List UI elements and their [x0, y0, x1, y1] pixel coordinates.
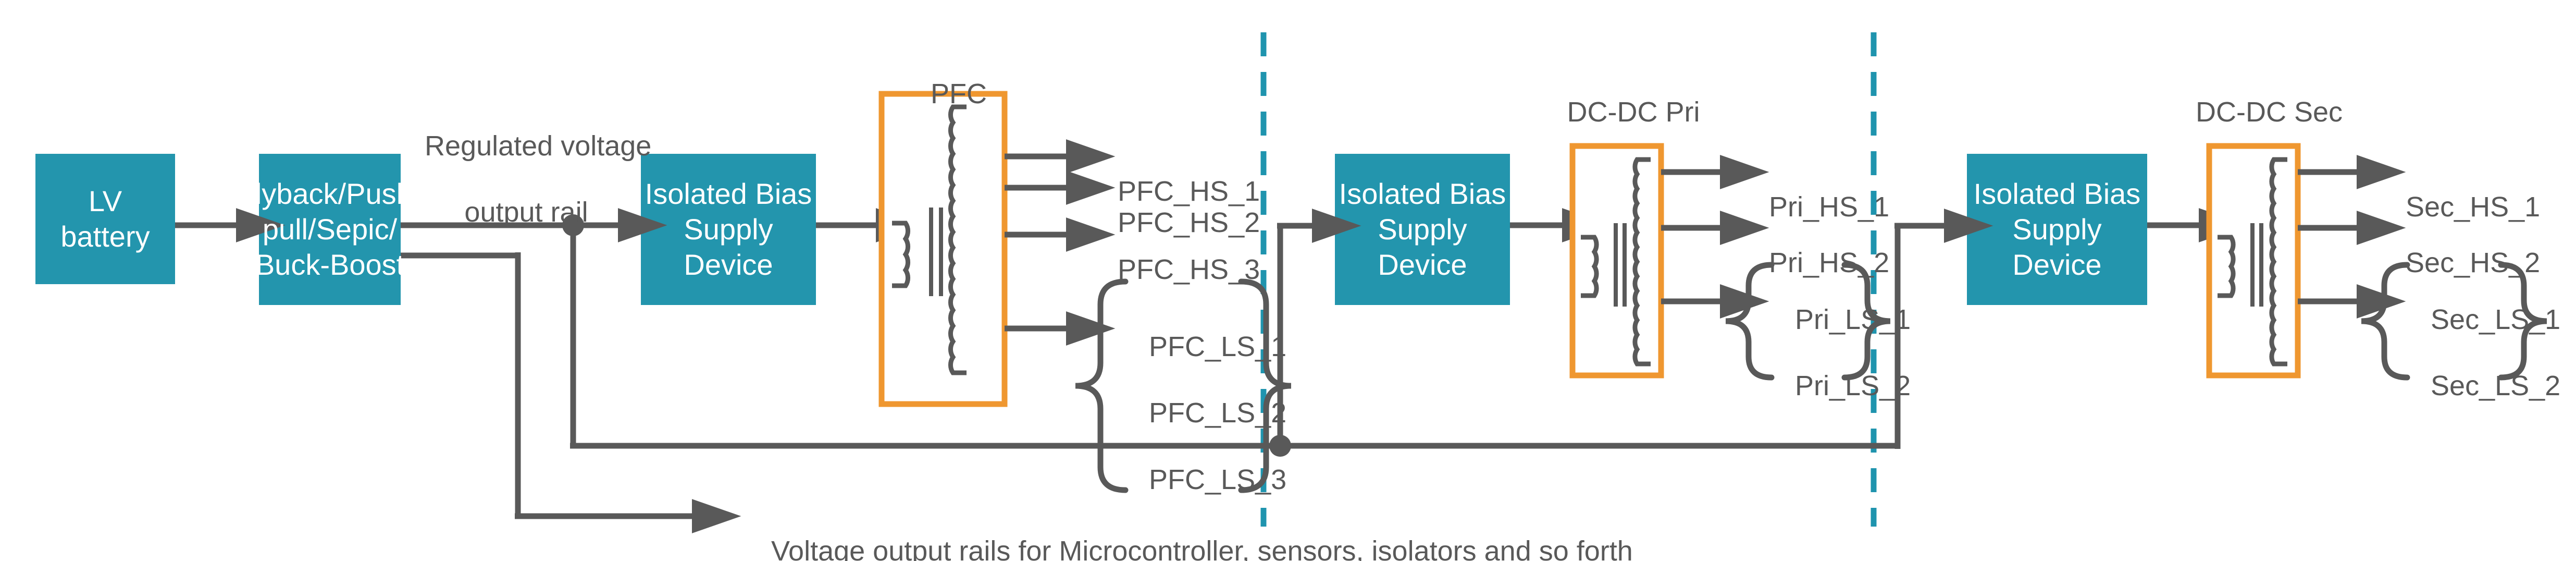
transformer-dcdc-pri-caption: DC-DC Pri	[1527, 63, 1709, 162]
pfc-ls-1-text: PFC_LS_1	[1149, 331, 1286, 362]
block-bias-supply-1[interactable]	[641, 154, 816, 305]
aux-rail-text: Voltage output rails for Microcontroller…	[771, 535, 1633, 561]
transformer-dcdc-sec-caption: DC-DC Sec	[2162, 63, 2345, 162]
block-bias-supply-2[interactable]	[1335, 154, 1510, 305]
pfc-hs-3-text: PFC_HS_3	[1118, 254, 1260, 285]
pri-ls-1-text: Pri_LS_1	[1795, 304, 1911, 335]
pfc-ls-3-text: PFC_LS_3	[1149, 464, 1286, 495]
block-bias-supply-3[interactable]	[1967, 154, 2147, 305]
dcdc-pri-caption-text: DC-DC Pri	[1567, 96, 1700, 128]
output-group-sec-ls: Sec_LS_1 Sec_LS_2	[2399, 270, 2560, 436]
sec-ls-2-text: Sec_LS_2	[2431, 370, 2560, 401]
transformer-dcdc-pri[interactable]	[1572, 146, 1721, 375]
regulated-rail-annotation: Regulated voltage output rail	[393, 96, 628, 263]
output-group-pfc-ls: PFC_LS_1 PFC_LS_2 PFC_LS_3	[1118, 297, 1286, 530]
pfc-caption-text: PFC	[931, 78, 987, 109]
transformer-pfc-caption: PFC	[881, 44, 1006, 144]
output-group-pri-ls: Pri_LS_1 Pri_LS_2	[1764, 270, 1911, 436]
sec-ls-1-text: Sec_LS_1	[2431, 304, 2560, 335]
transformer-dcdc-sec[interactable]	[2209, 146, 2358, 375]
block-converter[interactable]	[259, 154, 401, 305]
regulated-rail-line2: output rail	[464, 197, 588, 228]
block-diagram-canvas: LV battery Flyback/Push- pull/Sepic/ Buc…	[0, 0, 2576, 561]
pfc-ls-2-text: PFC_LS_2	[1149, 397, 1286, 429]
dcdc-sec-caption-text: DC-DC Sec	[2196, 96, 2343, 128]
regulated-rail-line1: Regulated voltage	[425, 130, 651, 162]
pri-ls-2-text: Pri_LS_2	[1795, 370, 1911, 401]
block-lv-battery[interactable]	[35, 154, 175, 284]
